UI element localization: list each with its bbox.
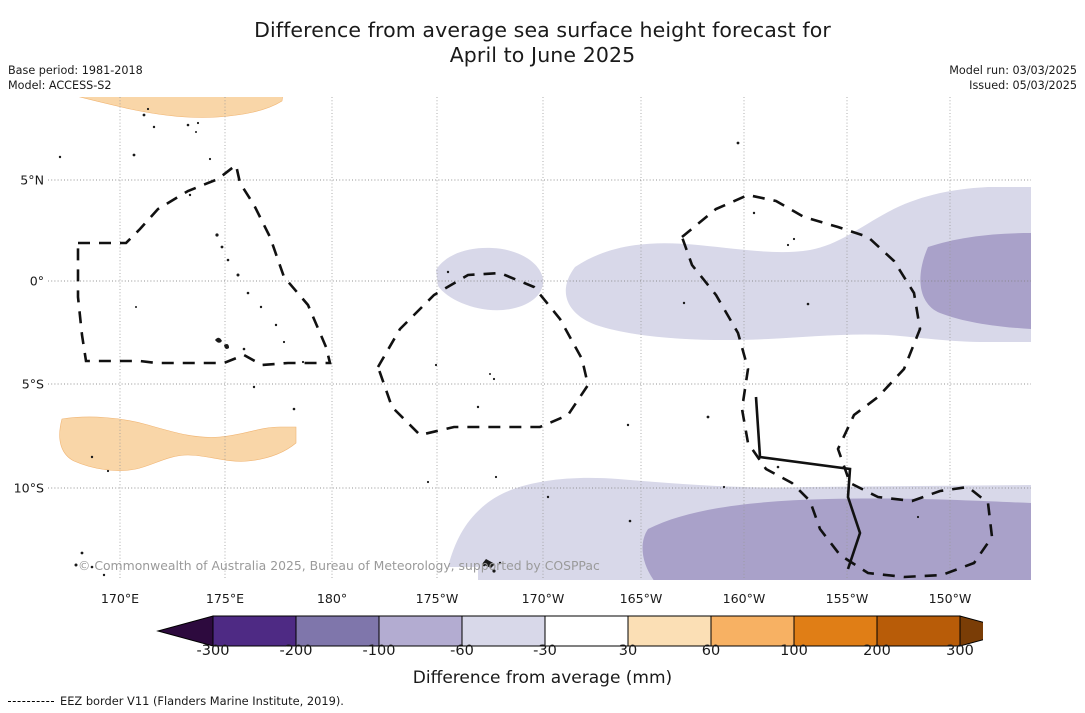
y-tick-0: 0° (0, 274, 44, 289)
colorbar-swatch-3 (379, 616, 462, 646)
eez-legend-label: EEZ border V11 (Flanders Marine Institut… (60, 694, 344, 708)
map-plot-area (48, 97, 1031, 580)
model-label: Model: ACCESS-S2 (8, 79, 143, 94)
metadata-right: Model run: 03/03/2025 Issued: 05/03/2025 (949, 64, 1077, 93)
x-tick-155w: 155°W (826, 591, 869, 606)
model-run-label: Model run: 03/03/2025 (949, 64, 1077, 79)
colorbar-swatch-over (960, 616, 983, 646)
colorbar-swatch-4 (462, 616, 545, 646)
x-tick-170e: 170°E (101, 591, 139, 606)
colorbar-tick-p200: 200 (863, 643, 891, 659)
title-line-1: Difference from average sea surface heig… (254, 18, 831, 42)
x-tick-175e: 175°E (206, 591, 244, 606)
map-contour-svg (48, 97, 1031, 580)
x-tick-165w: 165°W (620, 591, 663, 606)
x-tick-175w: 175°W (416, 591, 459, 606)
dashed-line-icon (8, 701, 54, 702)
colorbar-tick-m100: -100 (363, 643, 396, 659)
base-period-label: Base period: 1981-2018 (8, 64, 143, 79)
issued-label: Issued: 05/03/2025 (949, 79, 1077, 94)
colorbar-tick-p300: 300 (946, 643, 974, 659)
y-tick-10s: 10°S (0, 481, 44, 496)
page-title: Difference from average sea surface heig… (0, 18, 1085, 68)
colorbar-tick-m200: -200 (280, 643, 313, 659)
colorbar-swatch-9 (877, 616, 960, 646)
colorbar-tick-m60: -60 (450, 643, 474, 659)
colorbar-tick-p100: 100 (780, 643, 808, 659)
colorbar-tick-p30: 30 (619, 643, 637, 659)
y-tick-5n: 5°N (0, 173, 44, 188)
colorbar-swatch-7 (711, 616, 794, 646)
y-tick-5s: 5°S (0, 377, 44, 392)
colorbar-swatch-8 (794, 616, 877, 646)
colorbar-tick-m300: -300 (197, 643, 230, 659)
metadata-left: Base period: 1981-2018 Model: ACCESS-S2 (8, 64, 143, 93)
x-tick-160w: 160°W (723, 591, 766, 606)
colorbar-tick-m30: -30 (533, 643, 557, 659)
colorbar-swatch-2 (296, 616, 379, 646)
colorbar-swatch-1 (213, 616, 296, 646)
colorbar-tick-p60: 60 (702, 643, 720, 659)
colorbar-swatch-under (158, 616, 213, 646)
eez-legend: EEZ border V11 (Flanders Marine Institut… (8, 694, 344, 708)
x-tick-150w: 150°W (929, 591, 972, 606)
x-tick-170w: 170°W (522, 591, 565, 606)
colorbar-swatch-6 (628, 616, 711, 646)
colorbar-swatch-5 (545, 616, 628, 646)
x-tick-180: 180° (317, 591, 347, 606)
colorbar-title: Difference from average (mm) (0, 668, 1085, 688)
title-line-2: April to June 2025 (0, 43, 1085, 68)
